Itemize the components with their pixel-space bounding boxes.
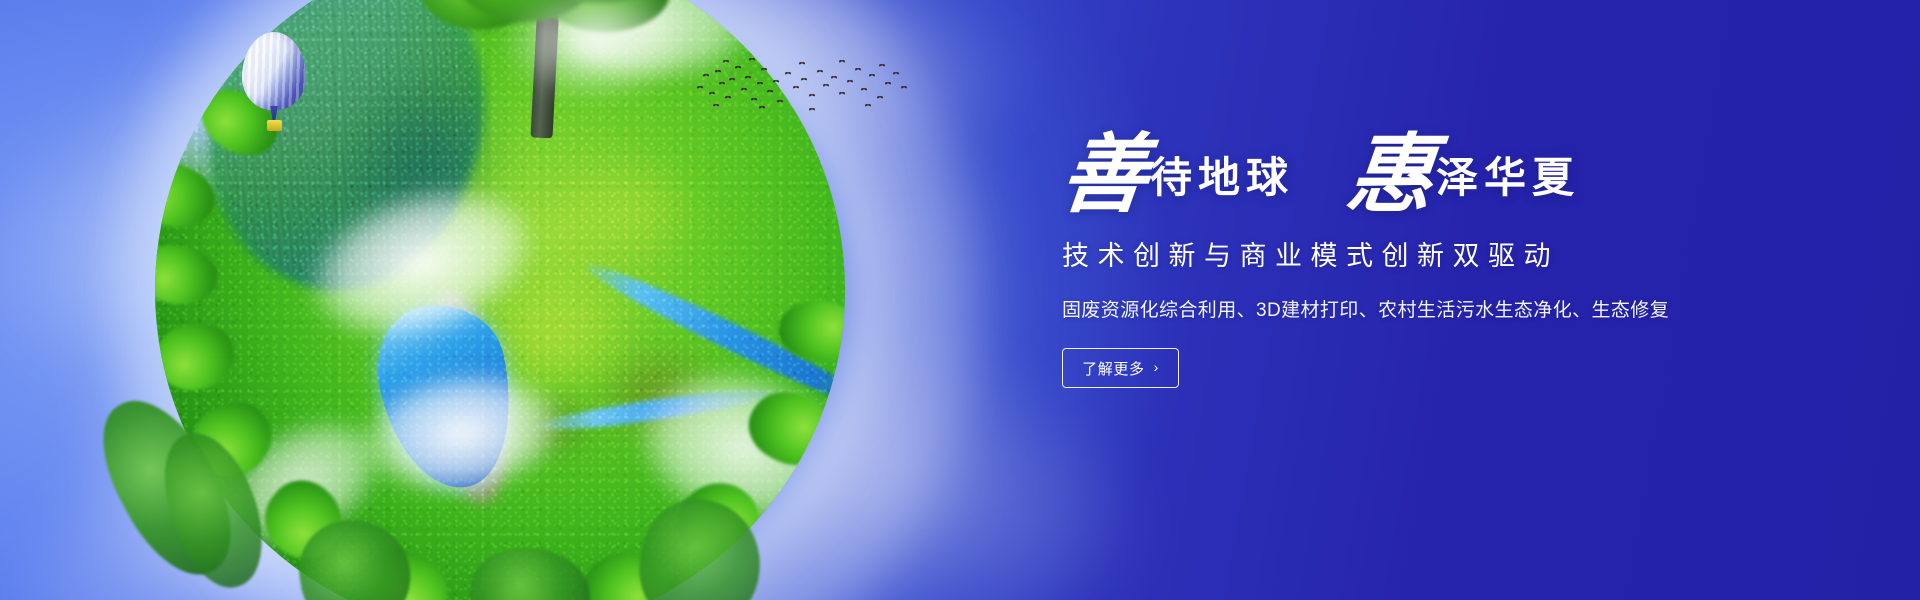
bird-icon	[752, 98, 757, 103]
bird-icon	[810, 94, 815, 99]
bird-icon	[716, 70, 721, 75]
bird-icon	[774, 80, 779, 85]
bird-icon	[840, 60, 845, 65]
bird-icon	[880, 64, 885, 69]
bird-icon	[710, 92, 715, 97]
bird-icon	[818, 70, 823, 75]
hero-subtitle: 技术创新与商业模式创新双驱动	[1062, 234, 1822, 273]
bird-icon	[848, 80, 853, 85]
headline-rest-2: 泽华夏	[1436, 158, 1580, 212]
learn-more-label: 了解更多	[1082, 358, 1144, 379]
chevron-right-icon: ›	[1154, 360, 1159, 374]
bird-icon	[902, 86, 907, 91]
headline-lead-char-1: 善	[1057, 132, 1150, 218]
bird-icon	[750, 58, 755, 63]
headline-group-1: 善 待地球	[1062, 126, 1294, 212]
bird-icon	[698, 86, 703, 91]
learn-more-button[interactable]: 了解更多 ›	[1062, 348, 1179, 388]
bird-icon	[824, 84, 829, 89]
bird-icon	[870, 74, 875, 79]
balloon-envelope	[242, 32, 306, 110]
bird-icon	[832, 76, 837, 81]
tree-mist	[500, 0, 690, 102]
bird-icon	[742, 88, 747, 93]
bird-icon	[758, 82, 763, 87]
bird-icon	[840, 92, 845, 97]
balloon-basket	[267, 120, 282, 131]
bird-icon	[886, 82, 891, 87]
bird-icon	[768, 90, 773, 95]
bird-icon	[714, 104, 719, 109]
bird-icon	[736, 66, 741, 71]
page-title: 善 待地球 惠 泽华夏	[1062, 126, 1822, 212]
tree	[420, 0, 670, 152]
headline-rest-1: 待地球	[1150, 158, 1294, 212]
bird-icon	[746, 76, 751, 81]
bird-flock	[690, 52, 920, 122]
bird-icon	[894, 72, 899, 77]
bird-icon	[762, 68, 767, 73]
bird-icon	[856, 68, 861, 73]
bird-icon	[778, 100, 783, 105]
headline-lead-char-2: 惠	[1343, 132, 1436, 218]
bird-icon	[786, 72, 791, 77]
hero-description: 固废资源化综合利用、3D建材打印、农村生活污水生态净化、生态修复	[1062, 295, 1822, 322]
bird-icon	[800, 62, 805, 67]
bird-icon	[878, 96, 883, 101]
bird-icon	[724, 60, 729, 65]
bird-icon	[760, 106, 765, 111]
bird-icon	[866, 104, 871, 109]
bird-icon	[730, 78, 735, 83]
bird-icon	[794, 86, 799, 91]
bird-icon	[720, 82, 725, 87]
hero-content: 善 待地球 惠 泽华夏 技术创新与商业模式创新双驱动 固废资源化综合利用、3D建…	[1062, 126, 1822, 388]
hot-air-balloon	[236, 32, 314, 140]
bird-icon	[862, 88, 867, 93]
bird-icon	[726, 96, 731, 101]
headline-group-2: 惠 泽华夏	[1348, 126, 1580, 212]
bird-icon	[802, 78, 807, 83]
hero-banner: 善 待地球 惠 泽华夏 技术创新与商业模式创新双驱动 固废资源化综合利用、3D建…	[0, 0, 1920, 600]
bird-icon	[704, 74, 709, 79]
bird-icon	[810, 108, 815, 113]
